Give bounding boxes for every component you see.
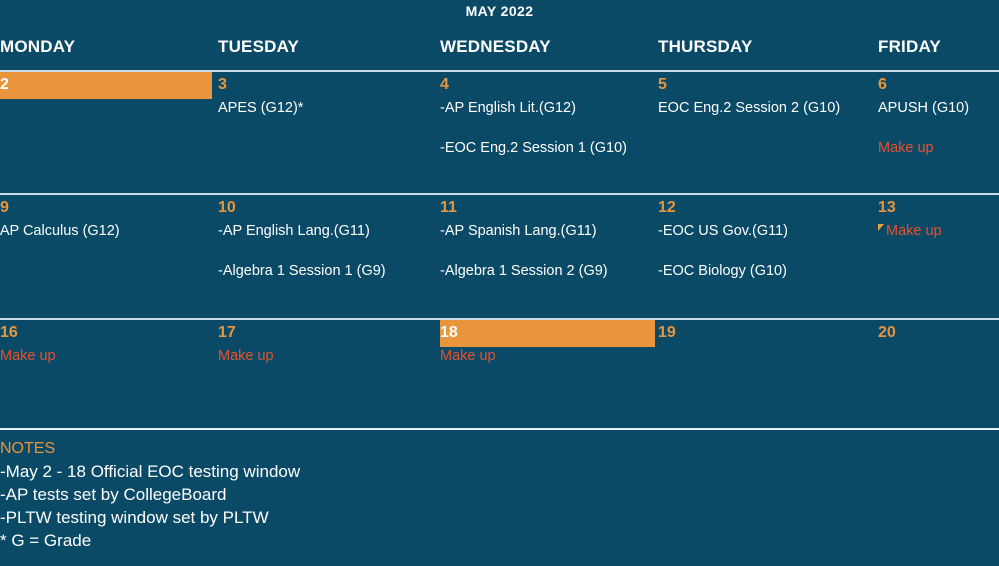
day-cell-18[interactable]: 18 Make up xyxy=(440,320,658,418)
day-events: Make up xyxy=(440,344,658,366)
day-events xyxy=(0,96,218,99)
day-events: -AP English Lang.(G11) -Algebra 1 Sessio… xyxy=(218,219,440,281)
weekday-header-friday: FRIDAY xyxy=(878,36,999,63)
notes-section: NOTES -May 2 - 18 Official EOC testing w… xyxy=(0,438,999,552)
day-number: 2 xyxy=(0,72,218,96)
day-cell-11[interactable]: 11 -AP Spanish Lang.(G11) -Algebra 1 Ses… xyxy=(440,195,658,312)
notes-divider xyxy=(0,428,999,430)
week-row: 2 3 APES (G12)* 4 -AP English Lit.(G12) … xyxy=(0,70,999,186)
day-events: -AP Spanish Lang.(G11) -Algebra 1 Sessio… xyxy=(440,219,658,281)
cursor-mark-icon xyxy=(878,224,884,231)
notes-line: -May 2 - 18 Official EOC testing window xyxy=(0,460,999,483)
day-cell-10[interactable]: 10 -AP English Lang.(G11) -Algebra 1 Ses… xyxy=(218,195,440,312)
day-events: -EOC US Gov.(G11) -EOC Biology (G10) xyxy=(658,219,878,281)
day-number: 9 xyxy=(0,195,218,219)
notes-line: -AP tests set by CollegeBoard xyxy=(0,483,999,506)
day-number: 17 xyxy=(218,320,440,344)
event-item: APUSH (G10) xyxy=(878,99,999,118)
day-cell-5[interactable]: 5 EOC Eng.2 Session 2 (G10) xyxy=(658,72,878,186)
day-number: 5 xyxy=(658,72,878,96)
event-item: EOC Eng.2 Session 2 (G10) xyxy=(658,99,878,118)
event-item-makeup: Make up xyxy=(878,139,999,158)
event-item: -EOC Eng.2 Session 1 (G10) xyxy=(440,139,658,158)
day-number: 6 xyxy=(878,72,999,96)
day-number: 12 xyxy=(658,195,878,219)
day-number: 3 xyxy=(218,72,440,96)
day-cell-20[interactable]: 20 xyxy=(878,320,999,418)
day-events: Make up xyxy=(0,344,218,366)
day-number: 4 xyxy=(440,72,658,96)
notes-line: -PLTW testing window set by PLTW xyxy=(0,506,999,529)
day-number: 20 xyxy=(878,320,999,344)
event-item: APES (G12)* xyxy=(218,99,440,118)
day-cell-12[interactable]: 12 -EOC US Gov.(G11) -EOC Biology (G10) xyxy=(658,195,878,312)
day-cell-19[interactable]: 19 xyxy=(658,320,878,418)
day-number: 16 xyxy=(0,320,218,344)
day-events: APES (G12)* xyxy=(218,96,440,118)
event-item-makeup: Make up xyxy=(0,347,218,366)
event-item: -AP English Lit.(G12) xyxy=(440,99,658,118)
day-cell-3[interactable]: 3 APES (G12)* xyxy=(218,72,440,186)
day-number: 19 xyxy=(658,320,878,344)
day-events: Make up xyxy=(878,219,999,241)
weekday-header-thursday: THURSDAY xyxy=(658,36,878,63)
day-cell-2[interactable]: 2 xyxy=(0,72,218,186)
weekday-header-row: MONDAY TUESDAY WEDNESDAY THURSDAY FRIDAY xyxy=(0,36,999,63)
day-cell-16[interactable]: 16 Make up xyxy=(0,320,218,418)
day-events: EOC Eng.2 Session 2 (G10) xyxy=(658,96,878,118)
day-events xyxy=(878,344,999,347)
event-item: -Algebra 1 Session 1 (G9) xyxy=(218,262,440,281)
event-item: -AP Calculus (G12) xyxy=(0,222,218,241)
page-title: MAY 2022 xyxy=(0,3,999,19)
event-item: -EOC US Gov.(G11) xyxy=(658,222,878,241)
event-item-makeup-label: Make up xyxy=(886,223,942,239)
notes-title: NOTES xyxy=(0,438,999,460)
day-events: -AP English Lit.(G12) -EOC Eng.2 Session… xyxy=(440,96,658,158)
event-item: -AP English Lang.(G11) xyxy=(218,222,440,241)
event-item-makeup: Make up xyxy=(878,222,999,241)
day-events: APUSH (G10) Make up xyxy=(878,96,999,158)
notes-line: * G = Grade xyxy=(0,529,999,552)
event-item: -AP Spanish Lang.(G11) xyxy=(440,222,658,241)
day-events xyxy=(658,344,878,347)
day-events: Make up xyxy=(218,344,440,366)
event-item: -EOC Biology (G10) xyxy=(658,262,878,281)
weekday-header-wednesday: WEDNESDAY xyxy=(440,36,658,63)
weekday-header-monday: MONDAY xyxy=(0,36,218,63)
day-cell-9[interactable]: 9 -AP Calculus (G12) xyxy=(0,195,218,312)
day-cell-17[interactable]: 17 Make up xyxy=(218,320,440,418)
event-item: -Algebra 1 Session 2 (G9) xyxy=(440,262,658,281)
day-events: -AP Calculus (G12) xyxy=(0,219,218,241)
day-cell-4[interactable]: 4 -AP English Lit.(G12) -EOC Eng.2 Sessi… xyxy=(440,72,658,186)
day-cell-13[interactable]: 13 Make up xyxy=(878,195,999,312)
day-number: 11 xyxy=(440,195,658,219)
day-cell-6[interactable]: 6 APUSH (G10) Make up xyxy=(878,72,999,186)
week-row: 9 -AP Calculus (G12) 10 -AP English Lang… xyxy=(0,193,999,312)
day-number: 18 xyxy=(440,320,658,344)
week-row: 16 Make up 17 Make up 18 Make up 19 20 xyxy=(0,318,999,418)
event-item-makeup: Make up xyxy=(440,347,658,366)
day-number: 13 xyxy=(878,195,999,219)
event-item-makeup: Make up xyxy=(218,347,440,366)
day-number: 10 xyxy=(218,195,440,219)
calendar-page: MAY 2022 MONDAY TUESDAY WEDNESDAY THURSD… xyxy=(0,0,999,566)
weekday-header-tuesday: TUESDAY xyxy=(218,36,440,63)
